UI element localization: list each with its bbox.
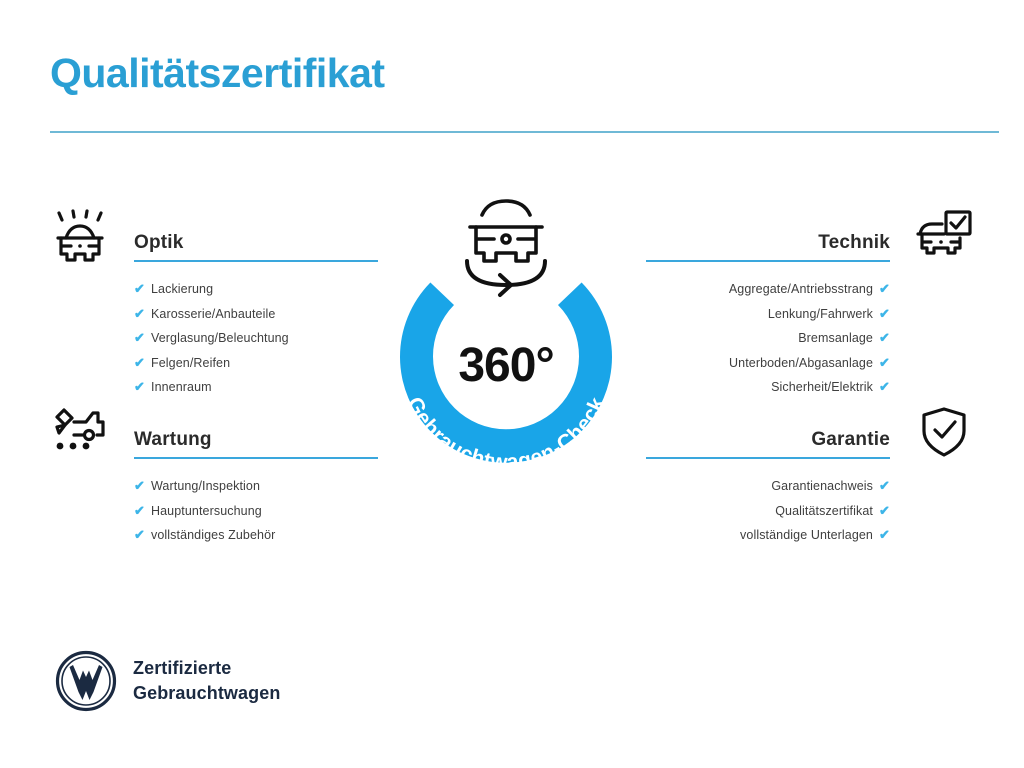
check-icon: ✔ — [879, 523, 890, 547]
list-item: Bremsanlage✔ — [646, 326, 956, 351]
check-icon: ✔ — [879, 375, 890, 399]
section-optik-header: Optik — [68, 206, 378, 268]
list-item: ✔Wartung/Inspektion — [68, 474, 378, 499]
section-technik-list: Aggregate/Antriebsstrang✔ Lenkung/Fahrwe… — [646, 277, 956, 400]
check-icon: ✔ — [879, 326, 890, 350]
list-item: ✔vollständiges Zubehör — [68, 523, 378, 548]
list-item: ✔Hauptuntersuchung — [68, 499, 378, 524]
section-wartung: Wartung ✔Wartung/Inspektion ✔Hauptunters… — [68, 403, 378, 548]
section-garantie: Garantie Garantienachweis✔ Qualitätszert… — [646, 403, 956, 548]
check-icon: ✔ — [879, 474, 890, 498]
vw-logo-line2: Gebrauchtwagen — [133, 683, 280, 703]
list-item: vollständige Unterlagen✔ — [646, 523, 956, 548]
section-optik: Optik ✔Lackierung ✔Karosserie/Anbauteile… — [68, 206, 378, 400]
section-garantie-header: Garantie — [646, 403, 956, 465]
list-item-label: Aggregate/Antriebsstrang — [729, 282, 873, 296]
list-item-label: Garantienachweis — [771, 479, 873, 493]
section-technik-underline — [646, 260, 890, 262]
list-item: Aggregate/Antriebsstrang✔ — [646, 277, 956, 302]
list-item-label: Karosserie/Anbauteile — [151, 307, 275, 321]
vw-logo-text: Zertifizierte Gebrauchtwagen — [133, 656, 280, 706]
vw-certified-logo: Zertifizierte Gebrauchtwagen — [55, 650, 280, 712]
section-garantie-list: Garantienachweis✔ Qualitätszertifikat✔ v… — [646, 474, 956, 548]
check-icon: ✔ — [134, 523, 145, 547]
check-icon: ✔ — [134, 499, 145, 523]
page-title: Qualitätszertifikat — [50, 51, 385, 96]
list-item-label: Lenkung/Fahrwerk — [768, 307, 873, 321]
car-shine-icon — [50, 208, 110, 264]
check-icon: ✔ — [134, 277, 145, 301]
list-item-label: Lackierung — [151, 282, 213, 296]
list-item: ✔Lackierung — [68, 277, 378, 302]
list-item-label: Sicherheit/Elektrik — [771, 380, 873, 394]
list-item-label: vollständige Unterlagen — [740, 528, 873, 542]
check-icon: ✔ — [134, 326, 145, 350]
shield-check-icon — [914, 405, 974, 461]
check-icon: ✔ — [134, 302, 145, 326]
section-garantie-title: Garantie — [811, 429, 890, 451]
check-icon: ✔ — [879, 277, 890, 301]
section-wartung-header: Wartung — [68, 403, 378, 465]
check-icon: ✔ — [134, 474, 145, 498]
list-item-label: vollständiges Zubehör — [151, 528, 275, 542]
list-item-label: Wartung/Inspektion — [151, 479, 260, 493]
check-icon: ✔ — [879, 302, 890, 326]
section-optik-list: ✔Lackierung ✔Karosserie/Anbauteile ✔Verg… — [68, 277, 378, 400]
vw-logo-line1: Zertifizierte — [133, 658, 231, 678]
list-item: Garantienachweis✔ — [646, 474, 956, 499]
check-icon: ✔ — [879, 499, 890, 523]
list-item: ✔Verglasung/Beleuchtung — [68, 326, 378, 351]
list-item: ✔Innenraum — [68, 375, 378, 400]
section-optik-underline — [134, 260, 378, 262]
title-divider — [50, 131, 999, 133]
section-technik-title: Technik — [818, 232, 890, 254]
list-item-label: Verglasung/Beleuchtung — [151, 331, 289, 345]
check-icon: ✔ — [879, 351, 890, 375]
certificate-page: Qualitätszertifikat Optik — [0, 0, 1024, 768]
list-item-label: Felgen/Reifen — [151, 356, 230, 370]
car-checkbox-icon — [914, 208, 974, 264]
section-garantie-underline — [646, 457, 890, 459]
list-item-label: Unterboden/Abgasanlage — [729, 356, 873, 370]
list-item-label: Bremsanlage — [798, 331, 873, 345]
section-technik-header: Technik — [646, 206, 956, 268]
check-icon: ✔ — [134, 375, 145, 399]
list-item-label: Hauptuntersuchung — [151, 504, 262, 518]
section-wartung-underline — [134, 457, 378, 459]
check-icon: ✔ — [134, 351, 145, 375]
list-item-label: Innenraum — [151, 380, 212, 394]
section-technik: Technik Aggregate/Antriebsstrang✔ Lenkun… — [646, 206, 956, 400]
list-item: ✔Karosserie/Anbauteile — [68, 302, 378, 327]
list-item: Lenkung/Fahrwerk✔ — [646, 302, 956, 327]
badge-360-check: Gebrauchtwagen-Check 360° — [372, 193, 640, 483]
list-item: ✔Felgen/Reifen — [68, 351, 378, 376]
list-item: Unterboden/Abgasanlage✔ — [646, 351, 956, 376]
list-item: Qualitätszertifikat✔ — [646, 499, 956, 524]
service-pen-car-icon — [50, 405, 110, 461]
section-optik-title: Optik — [134, 232, 184, 254]
list-item-label: Qualitätszertifikat — [775, 504, 873, 518]
list-item: Sicherheit/Elektrik✔ — [646, 375, 956, 400]
section-wartung-list: ✔Wartung/Inspektion ✔Hauptuntersuchung ✔… — [68, 474, 378, 548]
vw-logo-icon — [55, 650, 117, 712]
section-wartung-title: Wartung — [134, 429, 212, 451]
